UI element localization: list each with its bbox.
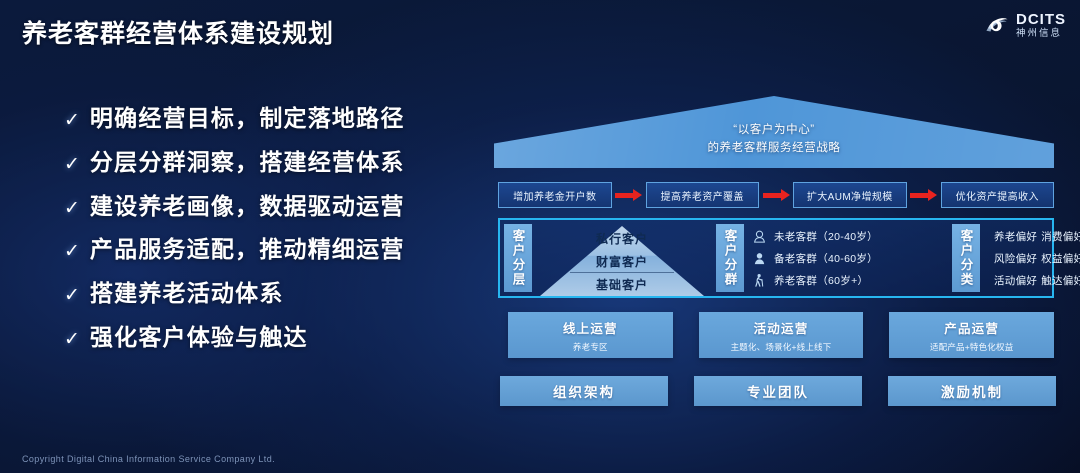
operation-subtitle: 适配产品+特色化权益 — [930, 341, 1013, 353]
pyramid-level-1: 私行客户 — [532, 230, 712, 247]
operation-card-product[interactable]: 产品运营 适配产品+特色化权益 — [889, 312, 1054, 358]
check-icon: ✓ — [64, 286, 80, 305]
goal-box-3[interactable]: 扩大AUM净增规模 — [793, 182, 907, 208]
foundation-card-org[interactable]: 组织架构 — [500, 376, 668, 406]
key-points-list: ✓ 明确经营目标，制定落地路径 ✓ 分层分群洞察，搭建经营体系 ✓ 建设养老画像… — [64, 104, 474, 367]
list-item: ✓ 产品服务适配，推动精细运营 — [64, 235, 474, 264]
list-item-label: 搭建养老活动体系 — [90, 279, 284, 308]
table-row: 风险偏好 权益偏好 — [990, 251, 1080, 266]
customer-segmentation-band: 客户分层 私行客户 财富客户 基础客户 客户分群 未老客群（2 — [498, 218, 1054, 298]
check-icon: ✓ — [64, 199, 80, 218]
list-item-label: 明确经营目标，制定落地路径 — [90, 104, 405, 133]
dcits-swirl-logo-icon — [984, 12, 1010, 38]
category-vertical-label: 客户分类 — [952, 224, 980, 292]
roof-text: “以客户为中心” 的养老客群服务经营战略 — [494, 122, 1054, 158]
page-title: 养老客群经营体系建设规划 — [22, 14, 334, 50]
table-row: 活动偏好 触达偏好 — [990, 273, 1080, 288]
list-item: ✓ 搭建养老活动体系 — [64, 279, 474, 308]
operation-subtitle: 养老专区 — [573, 341, 608, 353]
check-icon: ✓ — [64, 242, 80, 261]
table-row: 养老偏好 消费偏好 — [990, 229, 1080, 244]
operation-title: 活动运营 — [754, 318, 809, 337]
list-item: 备老客群（40-60岁） — [752, 251, 948, 266]
logo-sub-text: 神州信息 — [1016, 29, 1066, 39]
list-item-label: 分层分群洞察，搭建经营体系 — [90, 148, 405, 177]
customer-preference-grid: 养老偏好 消费偏好 风险偏好 权益偏好 活动偏好 触达偏好 — [980, 220, 1080, 296]
preference-cell: 触达偏好 — [1037, 273, 1080, 288]
list-item: 养老客群（60岁+） — [752, 273, 948, 288]
foundation-card-incentive[interactable]: 激励机制 — [888, 376, 1056, 406]
check-icon: ✓ — [64, 111, 80, 130]
foundation-row: 组织架构 专业团队 激励机制 — [500, 376, 1056, 406]
list-item: ✓ 明确经营目标，制定落地路径 — [64, 104, 474, 133]
logo-text: DCITS 神州信息 — [1016, 12, 1066, 39]
roof-line-1: “以客户为中心” — [494, 122, 1054, 140]
goal-box-2[interactable]: 提高养老资产覆盖 — [646, 182, 760, 208]
group-label-3: 养老客群（60岁+） — [774, 273, 868, 288]
slide-canvas: 养老客群经营体系建设规划 DCITS 神州信息 ✓ 明确经营目标，制定落地路径 … — [0, 0, 1080, 473]
operation-title: 线上运营 — [563, 318, 618, 337]
red-right-arrow-icon — [907, 189, 941, 201]
preference-cell: 活动偏好 — [990, 273, 1037, 288]
logo-main-text: DCITS — [1016, 12, 1066, 27]
elderly-with-cane-icon — [752, 273, 767, 288]
group-label-1: 未老客群（20-40岁） — [774, 229, 878, 244]
customer-group-list: 未老客群（20-40岁） 备老客群（40-60岁） — [744, 220, 948, 296]
pyramid-level-2: 财富客户 — [532, 253, 712, 270]
pyramid-divider — [570, 272, 674, 273]
strategy-house-diagram: “以客户为中心” 的养老客群服务经营战略 增加养老金开户数 提高养老资产覆盖 扩… — [494, 96, 1064, 426]
pyramid-level-3: 基础客户 — [532, 276, 712, 293]
foundation-card-team[interactable]: 专业团队 — [694, 376, 862, 406]
preference-cell: 权益偏好 — [1037, 251, 1080, 266]
goal-box-1[interactable]: 增加养老金开户数 — [498, 182, 612, 208]
adult-person-icon — [752, 251, 767, 266]
goal-box-4[interactable]: 优化资产提高收入 — [941, 182, 1055, 208]
roof-line-2: 的养老客群服务经营战略 — [494, 140, 1054, 158]
list-item: ✓ 分层分群洞察，搭建经营体系 — [64, 148, 474, 177]
list-item-label: 产品服务适配，推动精细运营 — [90, 235, 405, 264]
operation-title: 产品运营 — [944, 318, 999, 337]
list-item: 未老客群（20-40岁） — [752, 229, 948, 244]
operation-subtitle: 主题化、场景化+线上线下 — [731, 341, 832, 353]
check-icon: ✓ — [64, 330, 80, 349]
group-vertical-label: 客户分群 — [716, 224, 744, 292]
tier-vertical-label: 客户分层 — [504, 224, 532, 292]
operation-card-online[interactable]: 线上运营 养老专区 — [508, 312, 673, 358]
brand-logo: DCITS 神州信息 — [984, 12, 1066, 39]
preference-cell: 风险偏好 — [990, 251, 1037, 266]
group-label-2: 备老客群（40-60岁） — [774, 251, 878, 266]
check-icon: ✓ — [64, 155, 80, 174]
preference-cell: 消费偏好 — [1037, 229, 1080, 244]
list-item-label: 建设养老画像，数据驱动运营 — [90, 192, 405, 221]
list-item: ✓ 建设养老画像，数据驱动运营 — [64, 192, 474, 221]
goal-flow-row: 增加养老金开户数 提高养老资产覆盖 扩大AUM净增规模 优化资产提高收入 — [498, 182, 1054, 208]
customer-tier-pyramid: 私行客户 财富客户 基础客户 — [532, 220, 712, 296]
copyright-footer: Copyright Digital China Information Serv… — [22, 454, 275, 464]
preference-cell: 养老偏好 — [990, 229, 1037, 244]
operations-row: 线上运营 养老专区 活动运营 主题化、场景化+线上线下 产品运营 适配产品+特色… — [508, 312, 1054, 358]
list-item-label: 强化客户体验与触达 — [90, 323, 308, 352]
slide-header: 养老客群经营体系建设规划 DCITS 神州信息 — [0, 0, 1080, 62]
list-item: ✓ 强化客户体验与触达 — [64, 323, 474, 352]
diagram-roof: “以客户为中心” 的养老客群服务经营战略 — [494, 96, 1054, 168]
red-right-arrow-icon — [612, 189, 646, 201]
red-right-arrow-icon — [759, 189, 793, 201]
operation-card-campaign[interactable]: 活动运营 主题化、场景化+线上线下 — [699, 312, 864, 358]
young-person-icon — [752, 229, 767, 244]
